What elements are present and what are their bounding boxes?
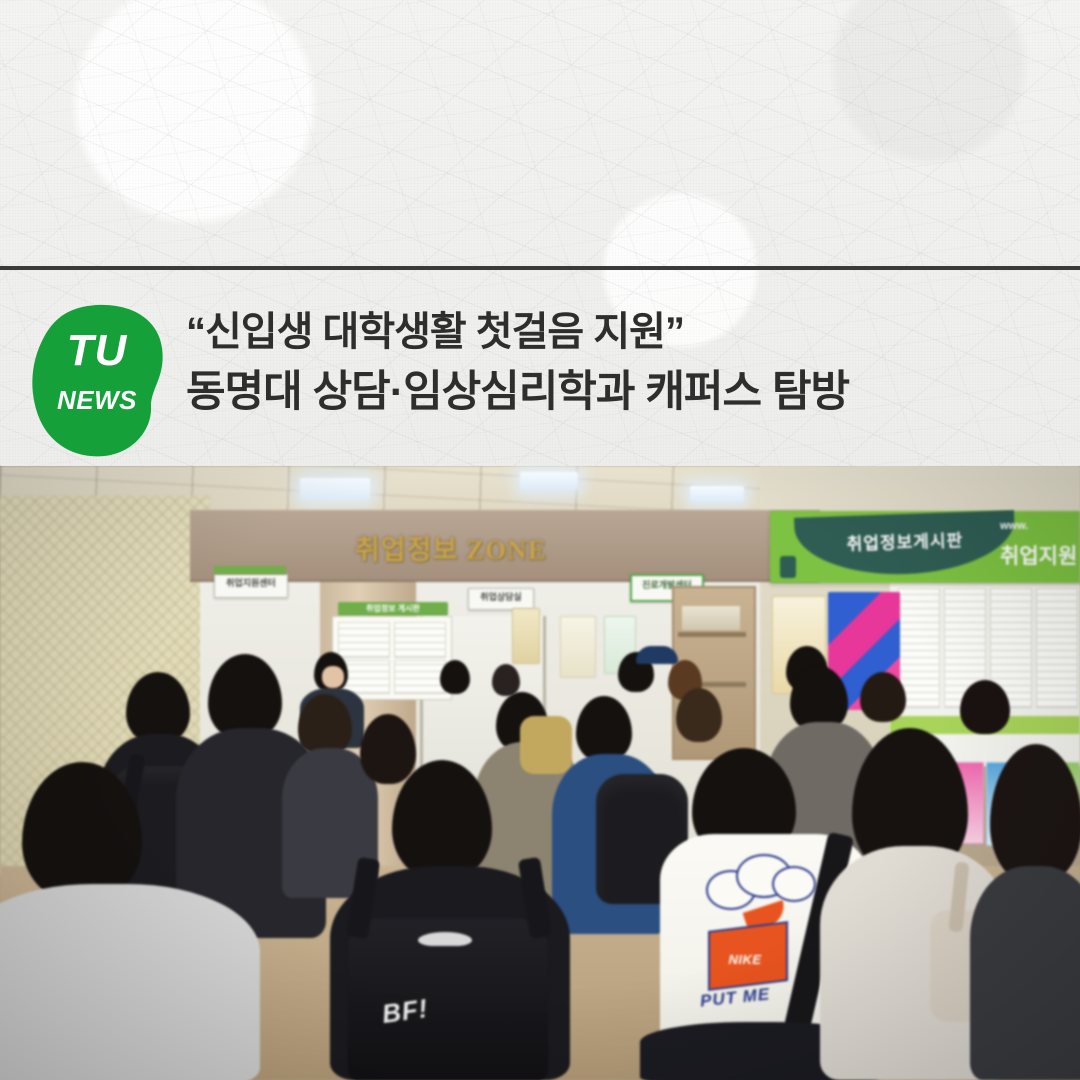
banner-www-text: www. (1000, 520, 1028, 532)
banner-leaf-text: 취업정보게시판 (795, 524, 1016, 557)
tshirt-cloud-graphic (772, 866, 816, 902)
news-photo: 취업정보 ZONE 취업지원센터 취업상담실 진로개발센터 취업정보 게시판 취… (0, 466, 1080, 1080)
cap (636, 646, 678, 664)
ceiling-lamp (300, 478, 370, 500)
shoulder-bag (520, 716, 572, 774)
shelf-items (682, 606, 740, 630)
headline-line-2: 동명대 상담·임상심리학과 캐퍼스 탐방 (186, 363, 1046, 421)
student-body-foreground (970, 866, 1080, 1080)
zone-sign-text: 취업정보 ZONE (355, 528, 555, 564)
news-card: TU NEWS “신입생 대학생활 첫걸음 지원” 동명대 상담·임상심리학과 … (0, 0, 1080, 1080)
person-head (860, 672, 906, 722)
ceiling-lamp (690, 486, 744, 502)
staff-face (322, 666, 344, 688)
sign-employment-center: 취업지원센터 (214, 574, 288, 598)
headline-line-1: “신입생 대학생활 첫걸음 지원” (186, 305, 1046, 359)
ceiling-lamp (520, 472, 578, 490)
job-posting-sheet (1036, 588, 1078, 708)
person-head (440, 660, 470, 694)
student-hoodie-gray (0, 884, 260, 1080)
person-head (960, 680, 1010, 734)
backpack-text: BF! (380, 993, 430, 1030)
shelf-divider (678, 632, 746, 637)
notice-sheet (394, 660, 446, 694)
notice-sheet (338, 622, 390, 658)
sign-counsel-room: 취업상담실 (468, 588, 534, 610)
notice-sheet (394, 622, 446, 658)
person-head (492, 664, 520, 696)
university-logo-icon (780, 556, 796, 578)
headline: “신입생 대학생활 첫걸음 지원” 동명대 상담·임상심리학과 캐퍼스 탐방 (186, 305, 1046, 421)
wall-poster (560, 616, 596, 678)
banner-sub-text: 취업지원 (1000, 540, 1077, 570)
backpack-logo-icon (418, 932, 472, 946)
sign-info-board-small: 취업정보 게시판 (338, 602, 448, 616)
student-head (298, 694, 352, 756)
student-head (676, 688, 722, 742)
logo-primary-text: TU (30, 329, 164, 373)
logo-secondary-text: NEWS (30, 387, 164, 413)
tu-news-logo[interactable]: TU NEWS (30, 303, 164, 458)
nike-wordmark: NIKE (714, 952, 776, 967)
wall-poster (512, 608, 540, 664)
sign-bar (214, 566, 286, 574)
